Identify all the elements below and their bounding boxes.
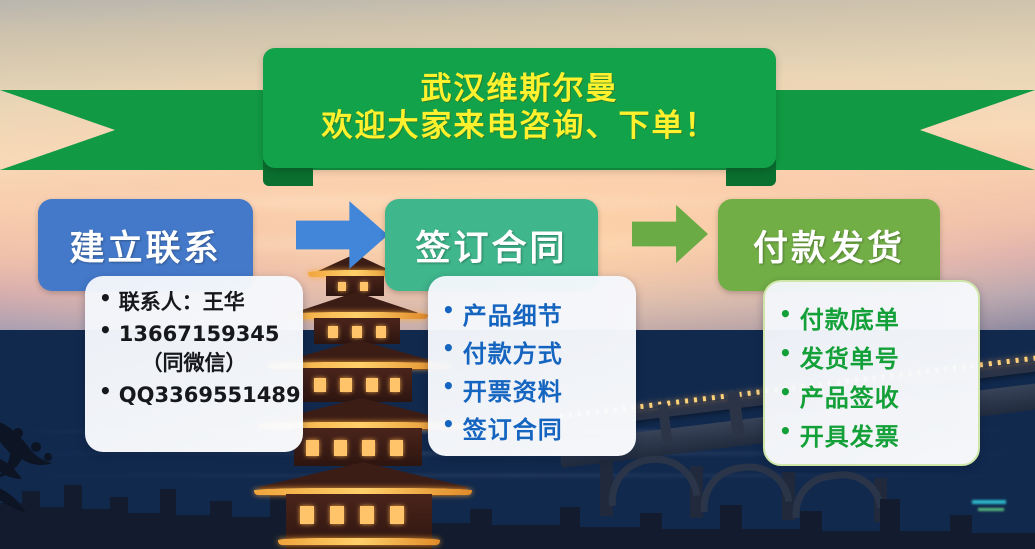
list-item: • 产品签收: [779, 382, 964, 414]
list-item-label: 产品细节: [463, 300, 563, 332]
pagoda-window: [300, 506, 314, 524]
list-item-label: 付款方式: [463, 338, 563, 370]
riverside-neon: [978, 508, 1004, 511]
step3-list: • 付款底单 • 发货单号 • 产品签收 • 开具发票: [779, 304, 964, 454]
step2-title: 签订合同: [415, 220, 567, 271]
step3-header[interactable]: 付款发货: [718, 199, 940, 291]
list-item-label: 产品签收: [800, 382, 900, 414]
list-item: • 付款方式: [442, 338, 622, 370]
list-item: • QQ3369551489: [99, 381, 289, 409]
bullet-icon: •: [779, 304, 793, 325]
pagoda-window: [376, 326, 386, 338]
step1-details: • 联系人：王华 • 13667159345 （同微信） • QQ3369551…: [85, 276, 303, 452]
riverside-neon: [972, 500, 1006, 504]
list-item-label: 开具发票: [800, 421, 900, 453]
list-item: • 开票资料: [442, 376, 622, 408]
step1-list: • 联系人：王华 • 13667159345 （同微信） • QQ3369551…: [99, 288, 289, 410]
bullet-icon: •: [442, 376, 456, 397]
pagoda-window: [340, 378, 352, 392]
list-item-label: QQ3369551489: [119, 381, 301, 409]
arrow-2: [632, 203, 708, 265]
pagoda-window: [390, 440, 403, 456]
step2-list: • 产品细节 • 付款方式 • 开票资料 • 签订合同: [442, 300, 622, 447]
pagoda-window: [314, 378, 326, 392]
bullet-icon: •: [442, 338, 456, 359]
bullet-icon: •: [779, 343, 793, 364]
list-item: • 产品细节: [442, 300, 622, 332]
list-item-label: 发货单号: [800, 343, 900, 375]
list-item-label: 联系人：王华: [119, 288, 245, 316]
banner-title-line1: 武汉维斯尔曼: [421, 71, 619, 108]
bullet-icon: •: [99, 288, 112, 309]
arrow-right-icon: [296, 199, 388, 271]
list-item: • 开具发票: [779, 421, 964, 453]
bullet-icon: •: [779, 382, 793, 403]
banner-plate: 武汉维斯尔曼 欢迎大家来电咨询、下单！: [263, 48, 776, 168]
pagoda-window: [328, 326, 338, 338]
list-item-label: 13667159345: [119, 320, 280, 348]
list-item: • 联系人：王华: [99, 288, 289, 316]
banner-title-line2: 欢迎大家来电咨询、下单！: [322, 108, 718, 145]
pagoda-window: [360, 282, 368, 291]
list-item: • 13667159345: [99, 320, 289, 348]
step3-title: 付款发货: [753, 220, 905, 271]
arrow-1: [296, 199, 388, 271]
pagoda-window: [366, 378, 378, 392]
list-item: • 签订合同: [442, 414, 622, 446]
list-item-label: 付款底单: [800, 304, 900, 336]
pagoda-window: [334, 440, 347, 456]
pagoda-window: [330, 506, 344, 524]
list-item-label: 开票资料: [463, 376, 563, 408]
bullet-icon: •: [442, 414, 456, 435]
list-item: • 付款底单: [779, 304, 964, 336]
poster-canvas: 武汉维斯尔曼 欢迎大家来电咨询、下单！ 建立联系 • 联系人：王华 • 1366…: [0, 0, 1035, 549]
pagoda-window: [338, 282, 346, 291]
list-item-label: 签订合同: [463, 414, 563, 446]
pagoda-window: [390, 378, 400, 392]
pagoda-window: [360, 506, 374, 524]
bullet-icon: •: [99, 320, 112, 341]
pagoda-window: [362, 440, 375, 456]
step1-title: 建立联系: [69, 220, 221, 271]
pagoda-window: [352, 326, 362, 338]
pagoda-window: [306, 440, 319, 456]
bullet-icon: •: [779, 421, 793, 442]
step2-details: • 产品细节 • 付款方式 • 开票资料 • 签订合同: [428, 276, 636, 456]
bullet-icon: •: [442, 300, 456, 321]
pagoda-window: [390, 506, 404, 524]
bullet-icon: •: [99, 381, 112, 402]
step3-details: • 付款底单 • 发货单号 • 产品签收 • 开具发票: [763, 280, 980, 466]
arrow-right-icon: [632, 203, 708, 265]
list-item-subline: （同微信）: [99, 349, 289, 377]
wechat-note: （同微信）: [99, 349, 289, 377]
list-item: • 发货单号: [779, 343, 964, 375]
pagoda-eave: [278, 538, 440, 545]
